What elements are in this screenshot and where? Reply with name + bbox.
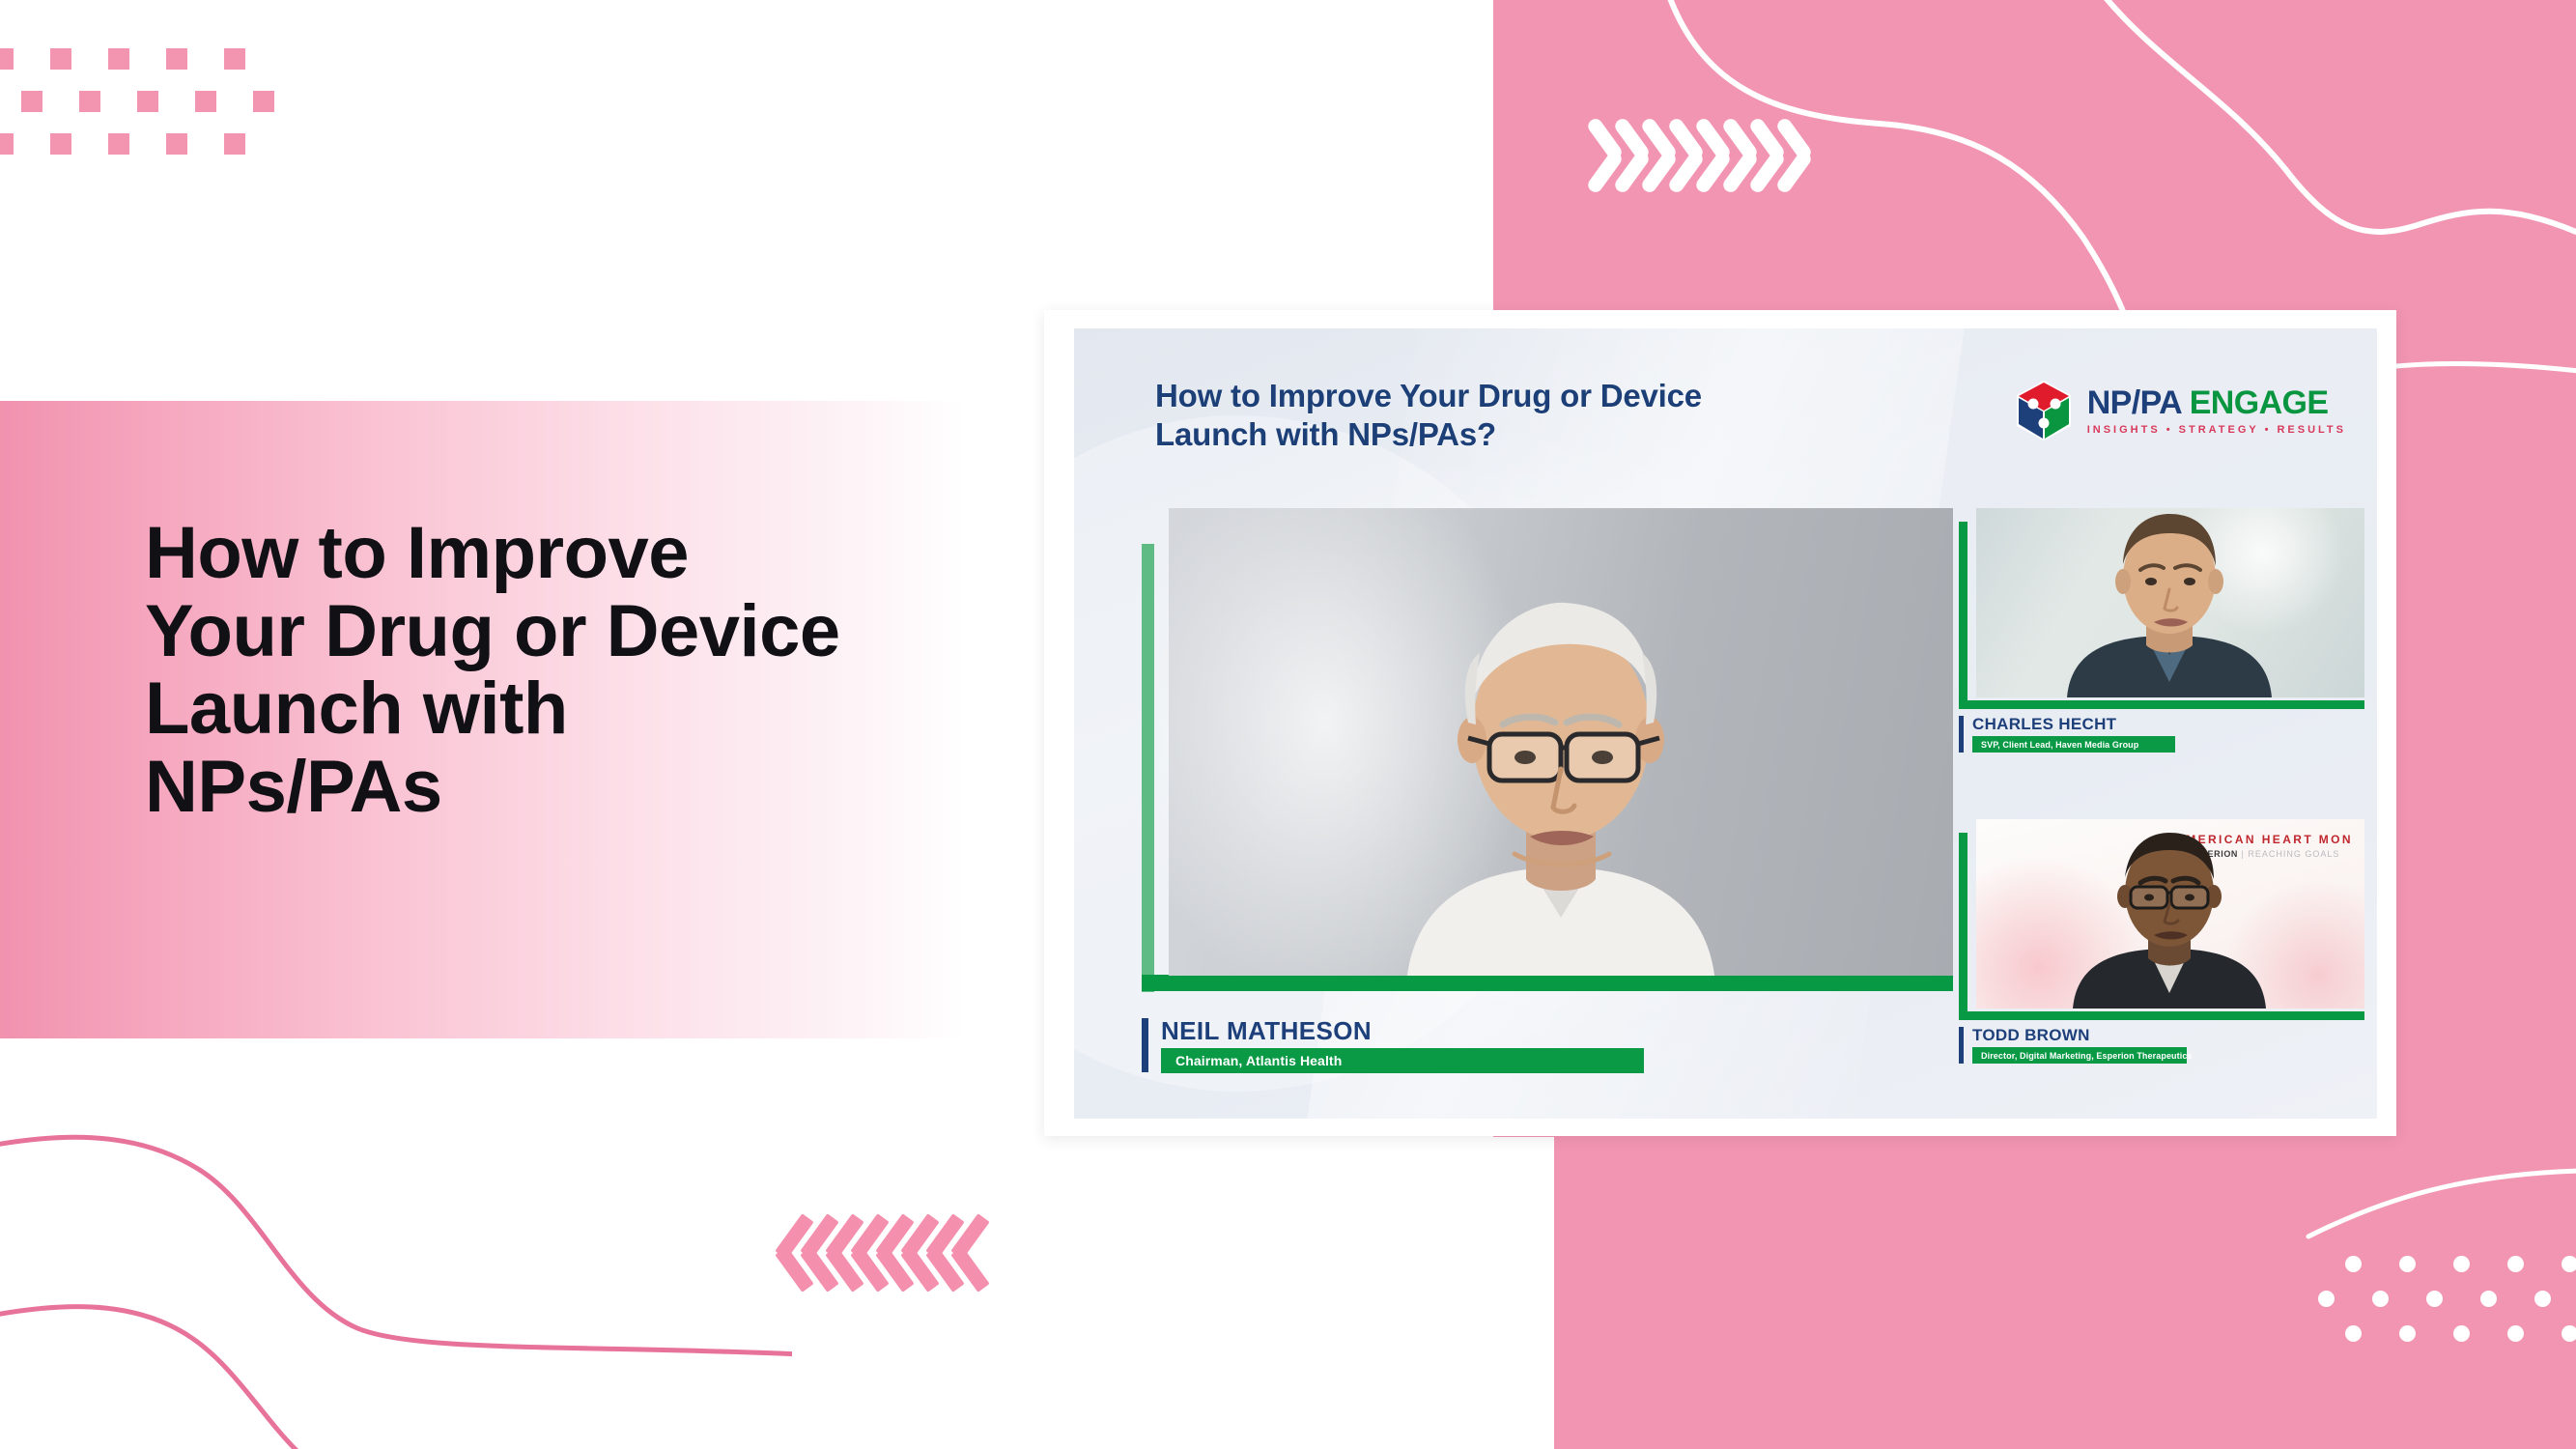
grid-dot (2345, 1256, 2362, 1272)
curved-lines-decoration (0, 1092, 792, 1449)
grid-square (166, 48, 187, 70)
square-grid-decoration (0, 48, 290, 174)
grid-square (166, 133, 187, 155)
main-speaker-video-tile[interactable] (1142, 508, 1953, 991)
main-speaker-name: NEIL MATHESON (1161, 1016, 1372, 1046)
grid-square (50, 133, 71, 155)
logo-tagline: INSIGHTS • STRATEGY • RESULTS (2087, 424, 2346, 436)
tile-bottom-accent-bar (1959, 1011, 2364, 1020)
main-speaker-video[interactable] (1169, 508, 1953, 976)
grid-dot (2399, 1325, 2416, 1342)
webinar-slide: How to Improve Your Drug or Device Launc… (1074, 328, 2377, 1119)
slide-title: How to Improve Your Drug or Device Launc… (1155, 377, 1928, 455)
grid-square (108, 48, 129, 70)
grid-square (0, 48, 14, 70)
grid-square (0, 133, 14, 155)
grid-square (21, 91, 42, 112)
video-left-accent-bar (1142, 544, 1154, 992)
chevron-right-icon (948, 1215, 991, 1293)
logo-word-nppa: NP/PA (2087, 384, 2190, 421)
chevron-left-icon (1773, 118, 1816, 195)
grid-dot (2345, 1325, 2362, 1342)
participant-video-charles-hecht[interactable] (1976, 508, 2364, 697)
tile-left-accent-bar (1959, 833, 1967, 1020)
participant-name: CHARLES HECHT (1972, 715, 2116, 734)
grid-square (224, 48, 245, 70)
grid-square (253, 91, 274, 112)
participant-portrait (1976, 508, 2364, 697)
grid-dot (2318, 1291, 2335, 1307)
participant-role-bar: SVP, Client Lead, Haven Media Group (1972, 736, 2175, 753)
grid-dot (2562, 1256, 2576, 1272)
promo-banner: How to Improve Your Drug or Device Launc… (0, 0, 2576, 1449)
logo-wordmark: NP/PA ENGAGE (2087, 386, 2346, 419)
grid-dot (2480, 1291, 2497, 1307)
main-speaker-role: Chairman, Atlantis Health (1175, 1053, 1342, 1068)
logo-word-engage: ENGAGE (2190, 384, 2329, 421)
participant-role-bar: Director, Digital Marketing, Esperion Th… (1972, 1047, 2187, 1064)
grid-dot (2426, 1291, 2443, 1307)
grid-dot (2507, 1256, 2524, 1272)
participant-video-todd-brown[interactable]: AMERICAN HEART MON ESPERION | REACHING G… (1976, 819, 2364, 1009)
grid-dot (2534, 1291, 2551, 1307)
promo-headline: How to Improve Your Drug or Device Launc… (145, 515, 976, 826)
grid-square (137, 91, 158, 112)
video-bottom-accent-bar (1142, 975, 1953, 991)
np-pa-engage-logo: NP/PA ENGAGE INSIGHTS • STRATEGY • RESUL… (2013, 379, 2346, 442)
main-speaker-role-bar: Chairman, Atlantis Health (1161, 1048, 1644, 1073)
nameplate-accent-tick (1142, 1018, 1148, 1072)
participant-name: TODD BROWN (1972, 1026, 2090, 1045)
grid-dot (2453, 1325, 2470, 1342)
puzzle-cube-logo-icon (2013, 379, 2075, 442)
grid-dot (2399, 1256, 2416, 1272)
grid-square (50, 48, 71, 70)
participant-portrait (1976, 819, 2364, 1009)
grid-dot (2453, 1256, 2470, 1272)
tile-left-accent-bar (1959, 522, 1967, 709)
speaker-portrait (1368, 578, 1754, 976)
participant-role: Director, Digital Marketing, Esperion Th… (1981, 1051, 2193, 1061)
nameplate-accent-tick (1959, 716, 1964, 753)
grid-dot (2507, 1325, 2524, 1342)
grid-dot (2372, 1291, 2389, 1307)
nameplate-accent-tick (1959, 1027, 1964, 1064)
grid-square (224, 133, 245, 155)
grid-square (195, 91, 216, 112)
grid-dot (2562, 1325, 2576, 1342)
participant-tile-todd-brown[interactable]: AMERICAN HEART MON ESPERION | REACHING G… (1959, 819, 2364, 1020)
background-white-notch (1493, 1137, 1554, 1449)
tile-bottom-accent-bar (1959, 700, 2364, 709)
grid-square (79, 91, 100, 112)
participant-tile-charles-hecht[interactable]: CHARLES HECHT SVP, Client Lead, Haven Me… (1959, 508, 2364, 709)
grid-square (108, 133, 129, 155)
white-dot-grid-decoration (2318, 1256, 2576, 1381)
participant-role: SVP, Client Lead, Haven Media Group (1981, 740, 2138, 750)
